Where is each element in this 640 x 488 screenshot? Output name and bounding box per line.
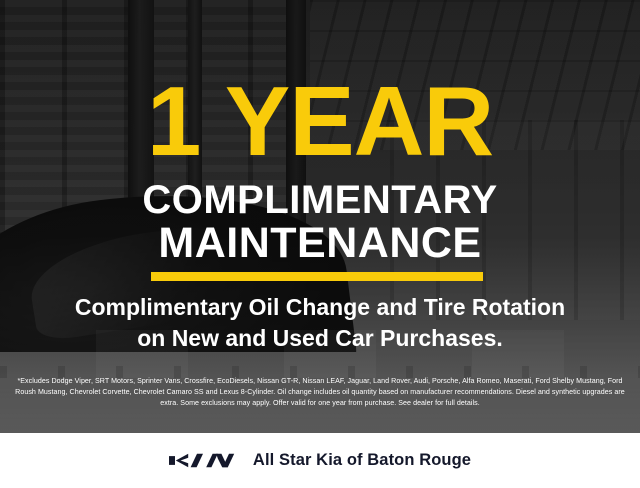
banner-content: 1 YEAR COMPLIMENTARY MAINTENANCE Complim… [0,0,640,488]
dealer-name: All Star Kia of Baton Rouge [253,451,471,470]
headline-maintenance: MAINTENANCE [0,222,640,265]
headline-complimentary: COMPLIMENTARY [0,180,640,220]
footer-bar: All Star Kia of Baton Rouge [0,433,640,488]
offer-description-line-2: on New and Used Car Purchases. [0,327,640,350]
offer-description-line-1: Complimentary Oil Change and Tire Rotati… [0,296,640,319]
disclaimer-text: *Excludes Dodge Viper, SRT Motors, Sprin… [14,376,626,410]
footer-brand-group: All Star Kia of Baton Rouge [169,450,471,471]
yellow-divider-rule [151,272,483,281]
headline-year: 1 YEAR [0,72,640,170]
kia-logo [169,450,237,471]
promotional-banner: 1 YEAR COMPLIMENTARY MAINTENANCE Complim… [0,0,640,488]
